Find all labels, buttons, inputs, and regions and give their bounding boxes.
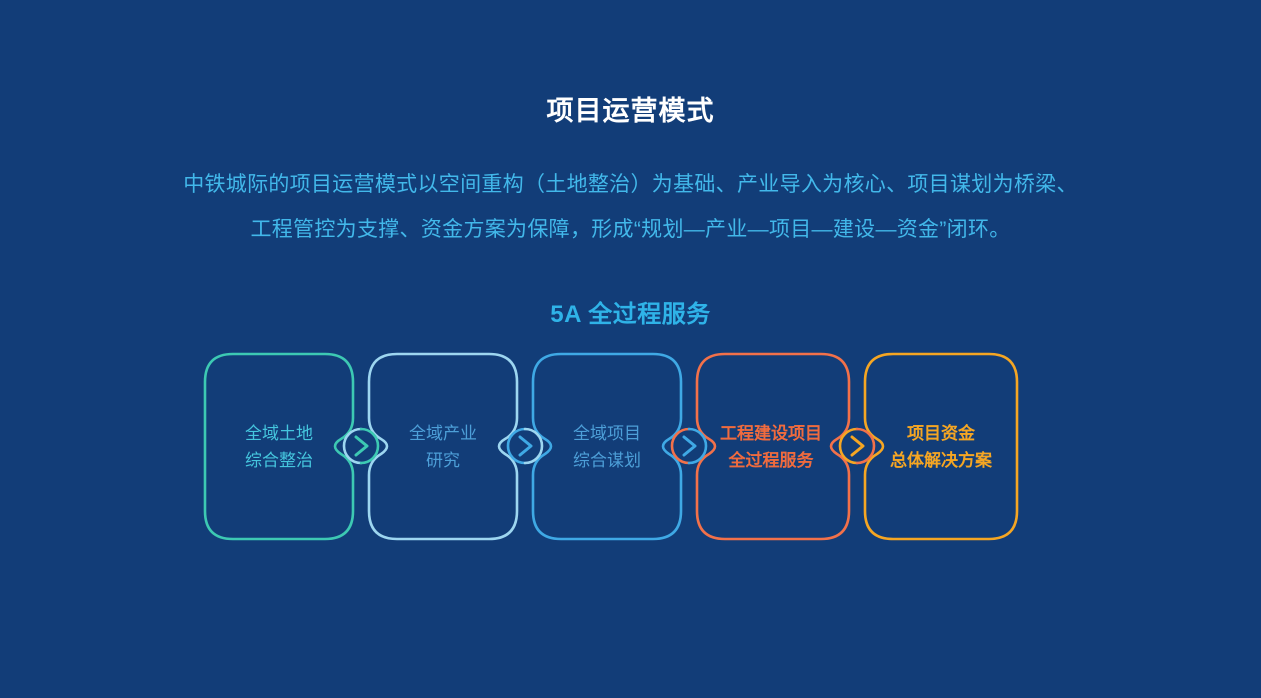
intro-line-1: 中铁城际的项目运营模式以空间重构（土地整治）为基础、产业导入为核心、项目谋划为桥…	[110, 162, 1151, 207]
intro-paragraph: 中铁城际的项目运营模式以空间重构（土地整治）为基础、产业导入为核心、项目谋划为桥…	[110, 162, 1151, 252]
flow-node-2-line-1: 全域产业	[409, 420, 477, 447]
flow-node-5-line-1: 项目资金	[907, 420, 975, 447]
flow-node-4-label[interactable]: 工程建设项目 全过程服务	[687, 404, 855, 490]
process-flow-diagram: 全域土地 综合整治 全域产业 研究 全域项目 综合谋划 工程建设项目 全过程服务…	[195, 344, 1031, 549]
flow-node-1-line-2: 综合整治	[245, 447, 313, 474]
flow-node-4-line-2: 全过程服务	[729, 447, 814, 474]
flow-node-5-label[interactable]: 项目资金 总体解决方案	[855, 404, 1027, 490]
flow-node-4-line-1: 工程建设项目	[720, 420, 822, 447]
flow-node-5-line-2: 总体解决方案	[890, 447, 992, 474]
flow-node-2-label[interactable]: 全域产业 研究	[363, 404, 523, 490]
flow-node-3-line-1: 全域项目	[573, 420, 641, 447]
flow-node-1-line-1: 全域土地	[245, 420, 313, 447]
slide-root: 项目运营模式 中铁城际的项目运营模式以空间重构（土地整治）为基础、产业导入为核心…	[0, 0, 1261, 698]
page-title: 项目运营模式	[0, 92, 1261, 130]
section-subtitle: 5A 全过程服务	[0, 294, 1261, 329]
flow-node-3-line-2: 综合谋划	[573, 447, 641, 474]
flow-node-3-label[interactable]: 全域项目 综合谋划	[527, 404, 687, 490]
flow-labels: 全域土地 综合整治 全域产业 研究 全域项目 综合谋划 工程建设项目 全过程服务…	[195, 344, 1031, 549]
intro-line-2: 工程管控为支撑、资金方案为保障，形成“规划—产业—项目—建设—资金”闭环。	[110, 207, 1151, 252]
flow-node-1-label[interactable]: 全域土地 综合整治	[199, 404, 359, 490]
flow-node-2-line-2: 研究	[426, 447, 460, 474]
